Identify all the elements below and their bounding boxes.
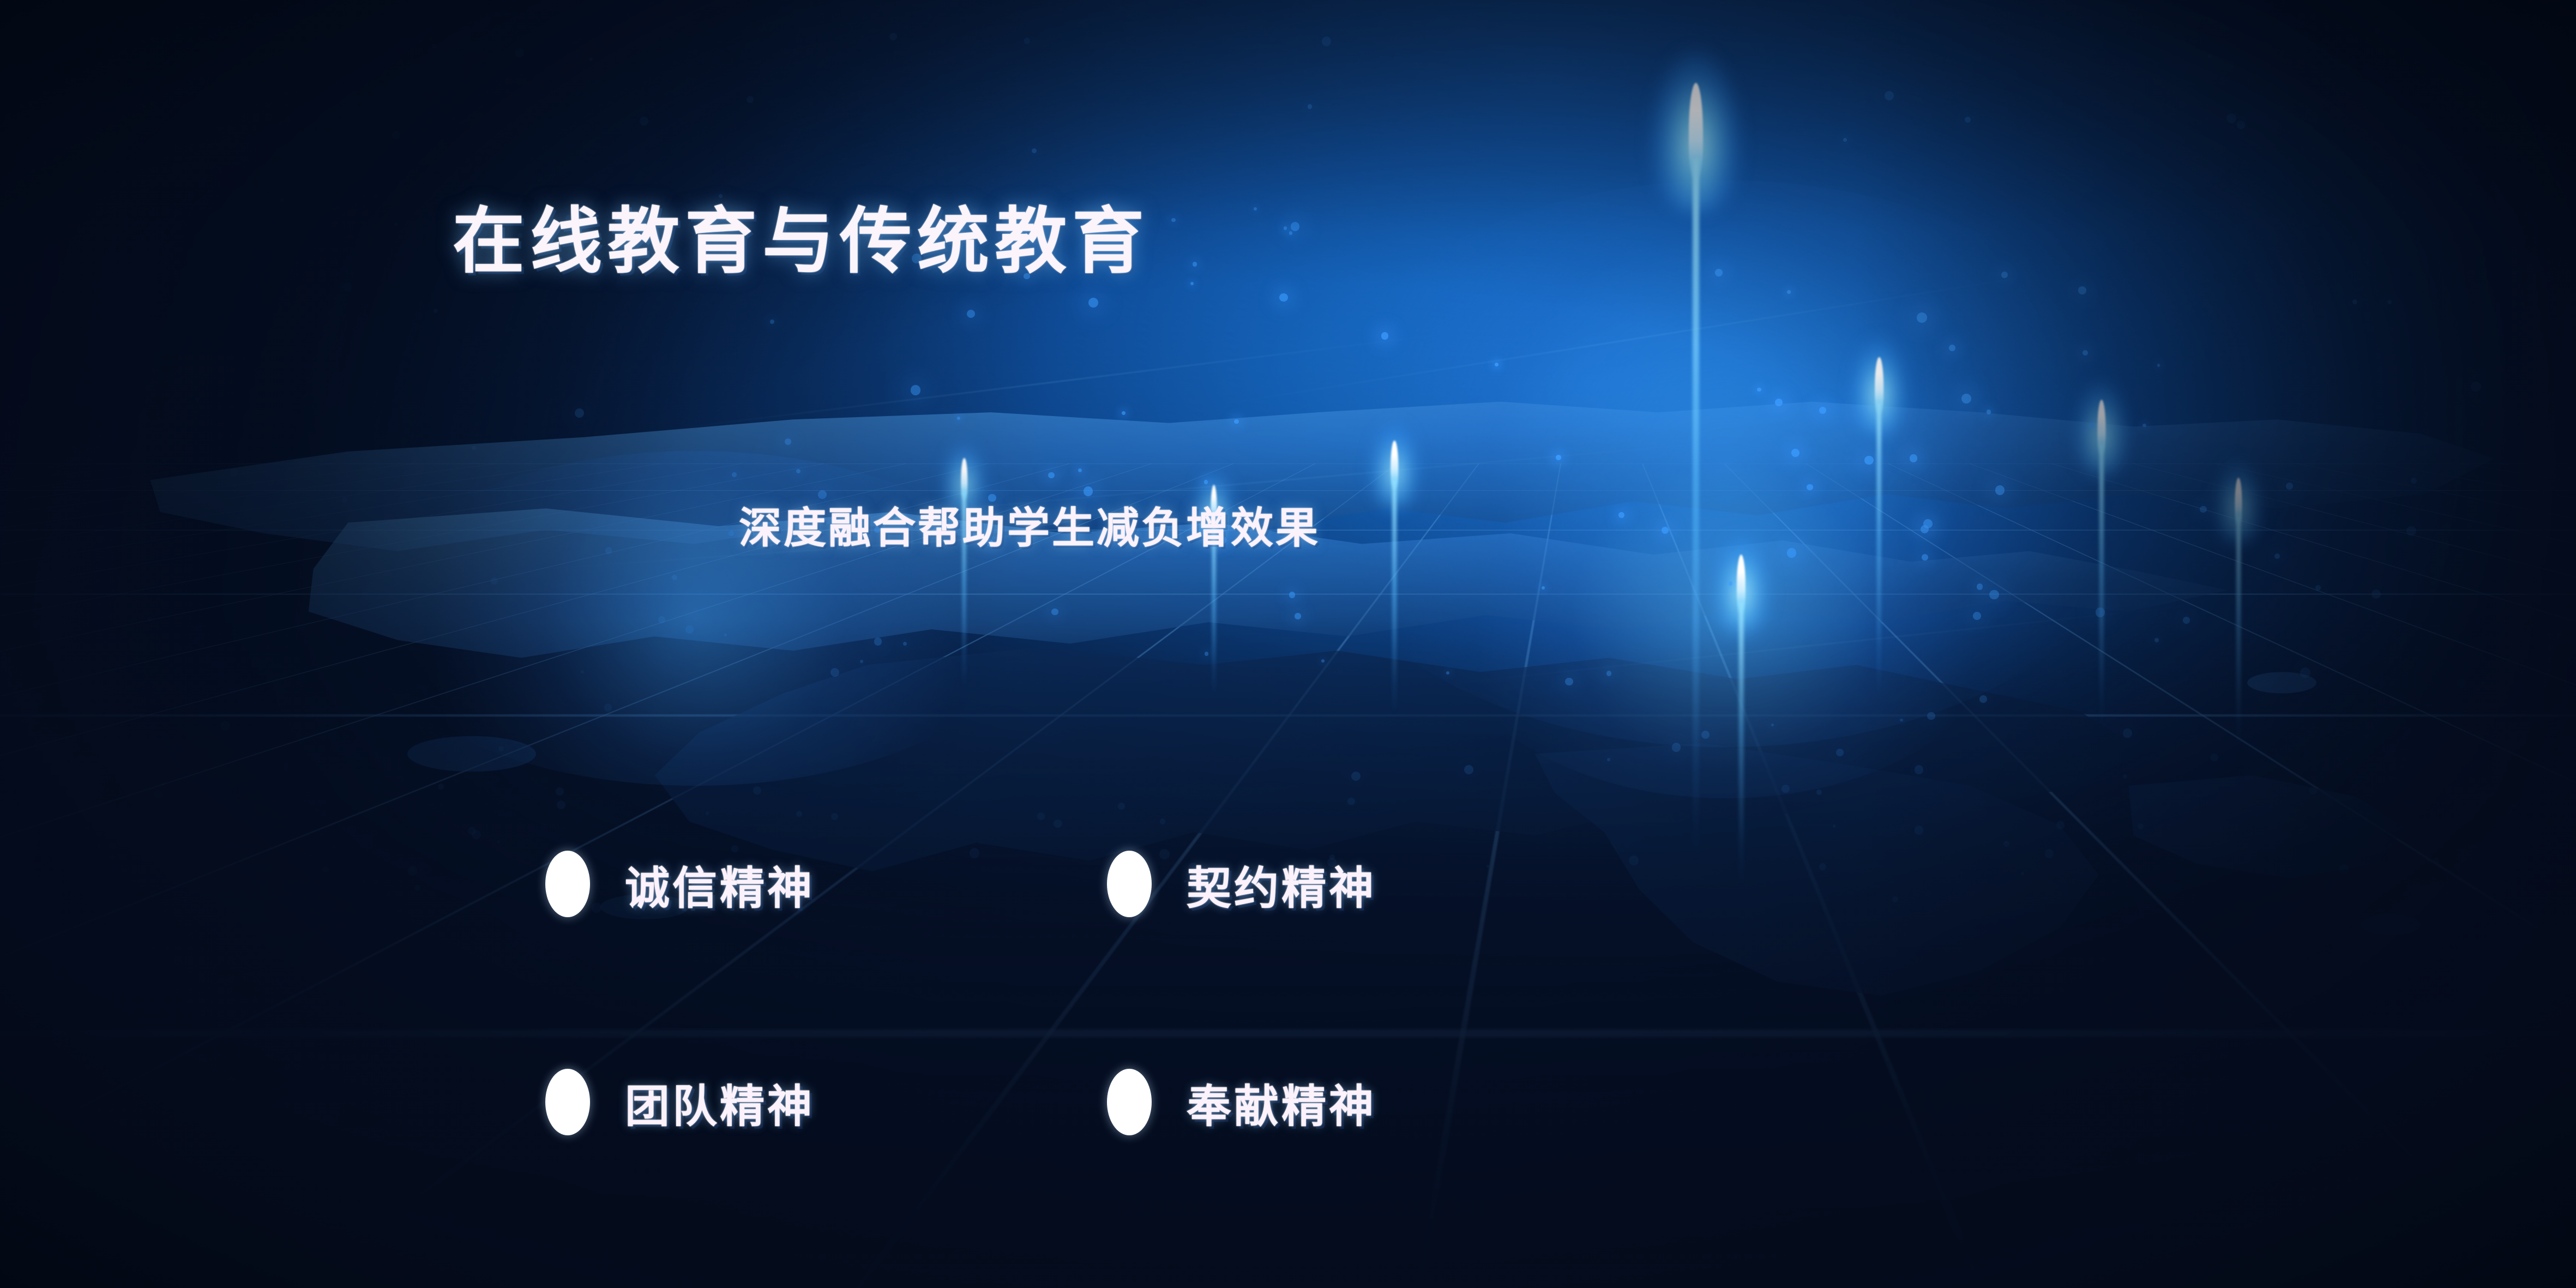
presentation-slide: 在线教育与传统教育 深度融合帮助学生减负增效果 诚信精神 契约精神 团队精神 奉… bbox=[0, 0, 2576, 1288]
bullet-list: 诚信精神 契约精神 团队精神 奉献精神 bbox=[545, 851, 1669, 1287]
bullet-label: 奉献精神 bbox=[1187, 1070, 1376, 1135]
bullet-label: 诚信精神 bbox=[625, 852, 815, 917]
bullet-label: 团队精神 bbox=[625, 1070, 815, 1135]
list-item[interactable]: 契约精神 bbox=[1107, 851, 1669, 917]
page-title: 在线教育与传统教育 bbox=[453, 202, 1149, 282]
bullet-dot-icon bbox=[1107, 851, 1152, 917]
list-item[interactable]: 团队精神 bbox=[545, 1069, 1107, 1135]
page-subtitle: 深度融合帮助学生减负增效果 bbox=[739, 504, 1320, 553]
bullet-dot-icon bbox=[545, 851, 590, 917]
bullet-label: 契约精神 bbox=[1187, 852, 1376, 917]
list-item[interactable]: 奉献精神 bbox=[1107, 1069, 1669, 1135]
bullet-dot-icon bbox=[1107, 1069, 1152, 1135]
list-item[interactable]: 诚信精神 bbox=[545, 851, 1107, 917]
bullet-dot-icon bbox=[545, 1069, 590, 1135]
